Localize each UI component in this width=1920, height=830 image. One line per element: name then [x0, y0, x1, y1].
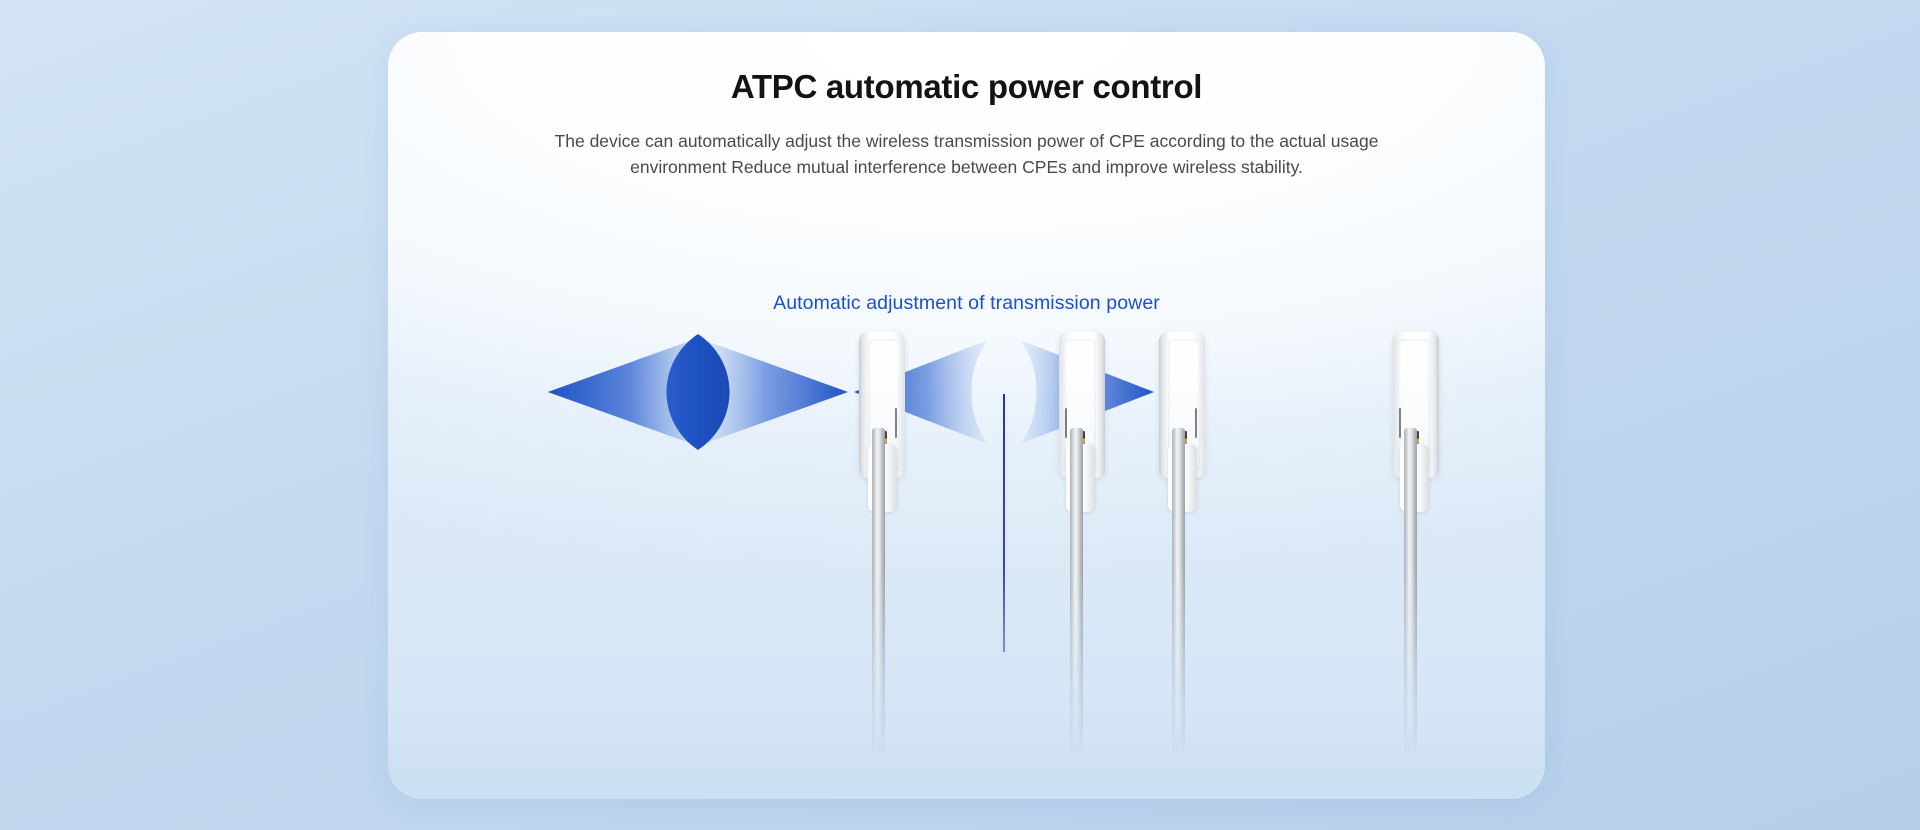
beam-layer [388, 332, 1545, 752]
antenna-whip [1399, 408, 1401, 438]
interference-divider-line [1003, 394, 1005, 652]
mounting-pole [1172, 428, 1185, 752]
page-subtitle: The device can automatically adjust the … [547, 128, 1387, 180]
mounting-pole [1404, 428, 1417, 752]
cpe-device-4 [1387, 332, 1443, 752]
cpe-device-3 [1155, 332, 1211, 752]
mounting-pole [872, 428, 885, 752]
atpc-diagram: There is no mutual interference between … [388, 332, 1545, 752]
page-title: ATPC automatic power control [388, 68, 1545, 106]
atpc-feature-card: ATPC automatic power control The device … [388, 32, 1545, 799]
beam-converged [548, 334, 848, 450]
antenna-whip [1195, 408, 1197, 438]
cpe-device-1 [855, 332, 911, 752]
cpe-device-2 [1053, 332, 1109, 752]
antenna-whip [895, 408, 897, 438]
section-heading: Automatic adjustment of transmission pow… [388, 292, 1545, 315]
mounting-pole [1070, 428, 1083, 752]
antenna-whip [1065, 408, 1067, 438]
